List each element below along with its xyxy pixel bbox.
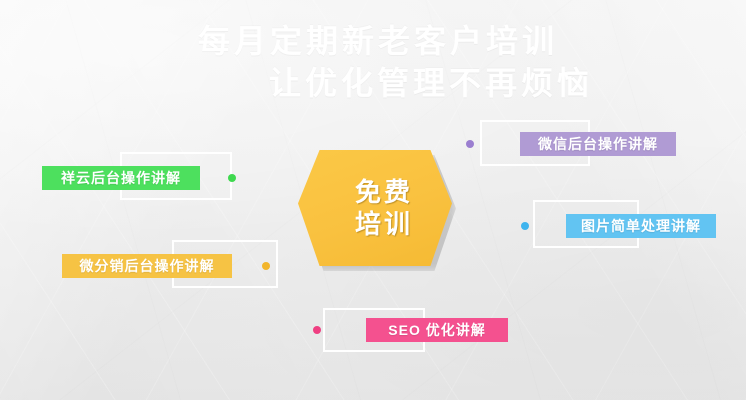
- hexagon-label-line-1: 免费: [355, 176, 413, 208]
- hexagon-label: 免费 培训: [298, 150, 452, 266]
- node-dot-xiangyun: [228, 174, 236, 182]
- node-seo[interactable]: SEO 优化讲解: [313, 306, 508, 356]
- node-dot-tupian: [521, 222, 529, 230]
- center-hexagon-badge: 免费 培训: [298, 150, 452, 266]
- node-label-xiangyun[interactable]: 祥云后台操作讲解: [42, 166, 200, 190]
- hexagon-label-line-2: 培训: [355, 208, 413, 240]
- headline-line-2: 让优化管理不再烦恼: [0, 62, 746, 104]
- node-tupian[interactable]: 图片简单处理讲解: [521, 198, 716, 252]
- node-weixin[interactable]: 微信后台操作讲解: [466, 118, 676, 170]
- headline-line-1: 每月定期新老客户培训: [0, 20, 746, 62]
- node-dot-weixin: [466, 140, 474, 148]
- node-xiangyun[interactable]: 祥云后台操作讲解: [42, 150, 242, 204]
- headline-block: 每月定期新老客户培训 让优化管理不再烦恼: [0, 20, 746, 104]
- node-dot-weifenxiao: [262, 262, 270, 270]
- node-label-tupian[interactable]: 图片简单处理讲解: [566, 214, 716, 238]
- node-label-seo[interactable]: SEO 优化讲解: [366, 318, 508, 342]
- node-label-weixin[interactable]: 微信后台操作讲解: [520, 132, 676, 156]
- node-dot-seo: [313, 326, 321, 334]
- node-weifenxiao[interactable]: 微分销后台操作讲解: [62, 238, 274, 292]
- node-label-weifenxiao[interactable]: 微分销后台操作讲解: [62, 254, 232, 278]
- banner-canvas: 每月定期新老客户培训 让优化管理不再烦恼 免费 培训 祥云后台操作讲解 微分销后…: [0, 0, 746, 400]
